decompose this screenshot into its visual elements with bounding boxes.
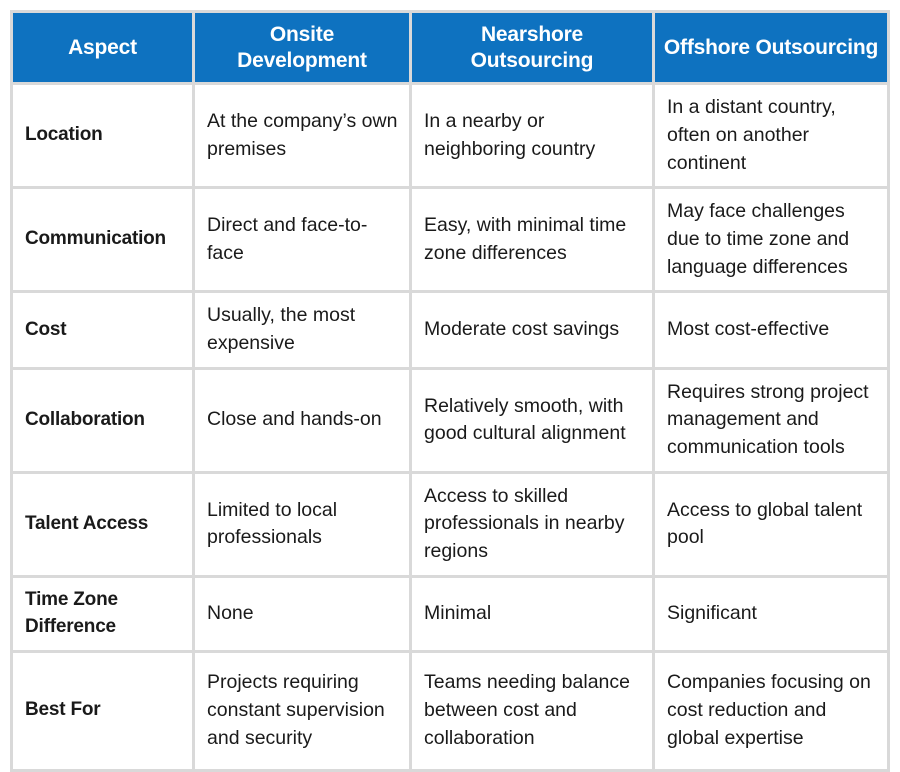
table-row: Time Zone Difference None Minimal Signif… [10,578,890,653]
cell-time-zone-difference-onsite: None [195,578,412,653]
table-row: Talent Access Limited to local professio… [10,474,890,578]
cell-talent-access-nearshore: Access to skilled professionals in nearb… [412,474,655,578]
row-label-location: Location [10,85,195,189]
cell-collaboration-onsite: Close and hands-on [195,370,412,474]
cell-time-zone-difference-nearshore: Minimal [412,578,655,653]
cell-location-nearshore: In a nearby or neighboring country [412,85,655,189]
comparison-table-container: Aspect Onsite Development Nearshore Outs… [10,10,890,772]
cell-best-for-nearshore: Teams needing balance between cost and c… [412,653,655,772]
table-body: Location At the company’s own premises I… [10,85,890,772]
column-header-offshore-outsourcing: Offshore Outsourcing [655,10,890,85]
table-row: Best For Projects requiring constant sup… [10,653,890,772]
cell-location-offshore: In a distant country, often on another c… [655,85,890,189]
column-header-aspect: Aspect [10,10,195,85]
page-root: Aspect Onsite Development Nearshore Outs… [0,0,900,674]
cell-cost-onsite: Usually, the most expensive [195,293,412,369]
cell-communication-onsite: Direct and face-to-face [195,189,412,293]
table-header: Aspect Onsite Development Nearshore Outs… [10,10,890,85]
table-row: Cost Usually, the most expensive Moderat… [10,293,890,369]
cell-communication-offshore: May face challenges due to time zone and… [655,189,890,293]
cell-collaboration-nearshore: Relatively smooth, with good cultural al… [412,370,655,474]
row-label-best-for: Best For [10,653,195,772]
row-label-time-zone-difference: Time Zone Difference [10,578,195,653]
row-label-communication: Communication [10,189,195,293]
row-label-talent-access: Talent Access [10,474,195,578]
cell-collaboration-offshore: Requires strong project management and c… [655,370,890,474]
cell-cost-offshore: Most cost-effective [655,293,890,369]
cell-talent-access-offshore: Access to global talent pool [655,474,890,578]
table-row: Communication Direct and face-to-face Ea… [10,189,890,293]
column-header-nearshore-outsourcing: Nearshore Outsourcing [412,10,655,85]
cell-best-for-offshore: Companies focusing on cost reduction and… [655,653,890,772]
table-row: Location At the company’s own premises I… [10,85,890,189]
cell-communication-nearshore: Easy, with minimal time zone differences [412,189,655,293]
row-label-collaboration: Collaboration [10,370,195,474]
column-header-onsite-development: Onsite Development [195,10,412,85]
cell-best-for-onsite: Projects requiring constant supervision … [195,653,412,772]
comparison-table: Aspect Onsite Development Nearshore Outs… [10,10,890,772]
cell-talent-access-onsite: Limited to local professionals [195,474,412,578]
cell-location-onsite: At the company’s own premises [195,85,412,189]
cell-cost-nearshore: Moderate cost savings [412,293,655,369]
cell-time-zone-difference-offshore: Significant [655,578,890,653]
table-header-row: Aspect Onsite Development Nearshore Outs… [10,10,890,85]
row-label-cost: Cost [10,293,195,369]
table-row: Collaboration Close and hands-on Relativ… [10,370,890,474]
